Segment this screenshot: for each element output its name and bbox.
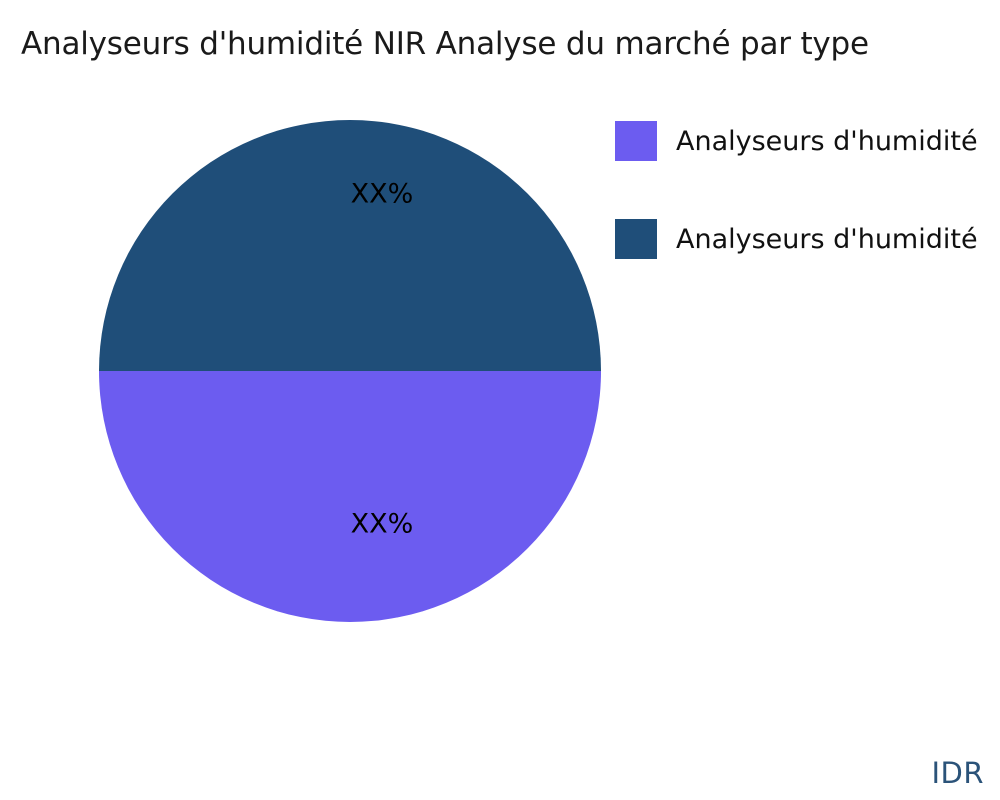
pie-slice-purple[interactable] [99,371,601,622]
legend-swatch-darkblue-icon [615,219,657,259]
legend-label-1: Analyseurs d'humidité [676,224,978,256]
pie-slice-darkblue[interactable] [99,120,601,371]
chart-legend: Analyseurs d'humidité Analyseurs d'humid… [615,121,1000,281]
chart-title: Analyseurs d'humidité NIR Analyse du mar… [21,24,996,64]
pie-chart: XX% XX% [99,120,601,622]
legend-label-0: Analyseurs d'humidité [676,126,978,158]
legend-swatch-purple-icon [615,121,657,161]
pie-slice-label-darkblue: XX% [351,181,414,208]
pie-slice-label-purple: XX% [351,511,414,538]
chart-canvas: Analyseurs d'humidité NIR Analyse du mar… [0,0,1000,800]
watermark-idr: IDR [931,756,984,790]
